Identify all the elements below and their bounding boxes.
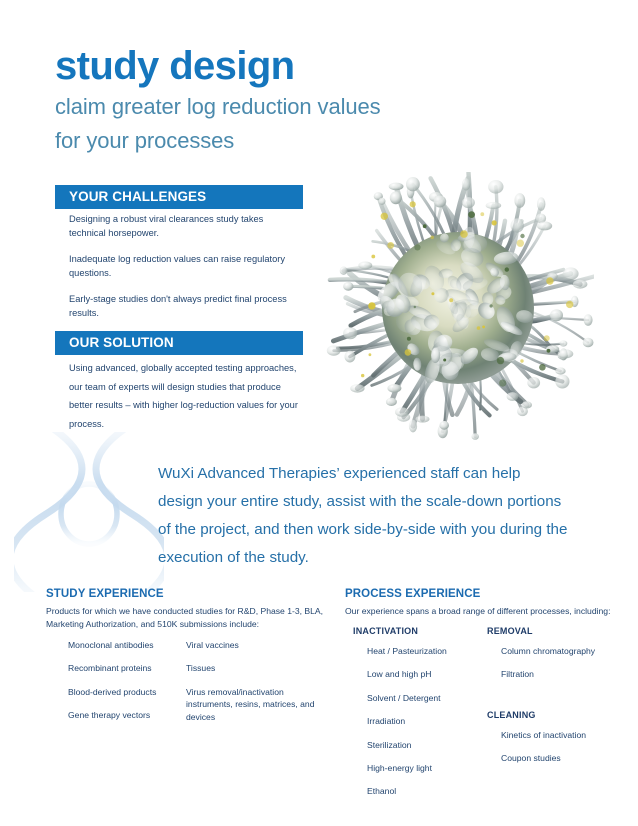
poster-header: study design claim greater log reduction… xyxy=(55,44,515,156)
inactivation-heading: INACTIVATION xyxy=(353,626,483,636)
list-item: Gene therapy vectors xyxy=(68,709,186,721)
section-bar-challenges: YOUR CHALLENGES xyxy=(55,185,303,209)
list-item: Low and high pH xyxy=(353,668,483,680)
list-item: High-energy light xyxy=(353,762,483,774)
list-item: Heat / Pasteurization xyxy=(353,645,483,657)
page-subtitle-line2: for your processes xyxy=(55,126,515,156)
virus-illustration-icon xyxy=(322,172,594,444)
section-bar-solution: OUR SOLUTION xyxy=(55,331,303,355)
cleaning-heading: CLEANING xyxy=(487,710,623,720)
page-subtitle-line1: claim greater log reduction values xyxy=(55,92,515,122)
list-item: Recombinant proteins xyxy=(68,662,186,674)
challenges-paragraph: Early-stage studies don't always predict… xyxy=(69,293,299,320)
list-item: Filtration xyxy=(487,668,623,680)
list-item: Virus removal/inactivation instruments, … xyxy=(186,686,326,723)
removal-heading: REMOVAL xyxy=(487,626,623,636)
list-item: Tissues xyxy=(186,662,326,674)
study-experience-column-b: Viral vaccines Tissues Virus removal/ina… xyxy=(186,639,326,734)
dna-helix-watermark-icon xyxy=(14,432,164,592)
inactivation-column: INACTIVATION Heat / Pasteurization Low a… xyxy=(345,626,483,809)
solution-body: Using advanced, globally accepted testin… xyxy=(69,359,299,433)
list-item: Monoclonal antibodies xyxy=(68,639,186,651)
list-item: Viral vaccines xyxy=(186,639,326,651)
list-item: Coupon studies xyxy=(487,752,623,764)
page-title: study design xyxy=(55,44,515,88)
process-experience-title: PROCESS EXPERIENCE xyxy=(345,588,630,600)
solution-paragraph: Using advanced, globally accepted testin… xyxy=(69,359,299,433)
list-item: Sterilization xyxy=(353,739,483,751)
column-spacer xyxy=(487,692,623,710)
list-item: Irradiation xyxy=(353,715,483,727)
removal-cleaning-column: REMOVAL Column chromatography Filtration… xyxy=(483,626,623,809)
section-bar-challenges-label: YOUR CHALLENGES xyxy=(55,185,303,209)
list-item: Kinetics of inactivation xyxy=(487,729,623,741)
section-bar-solution-label: OUR SOLUTION xyxy=(55,331,303,355)
study-experience-intro: Products for which we have conducted stu… xyxy=(46,605,341,631)
study-experience-column-a: Monoclonal antibodies Recombinant protei… xyxy=(46,639,186,734)
list-item: Ethanol xyxy=(353,785,483,797)
list-item: Blood-derived products xyxy=(68,686,186,698)
challenges-body: Designing a robust viral clearances stud… xyxy=(69,213,299,333)
process-experience-section: PROCESS EXPERIENCE Our experience spans … xyxy=(345,588,630,809)
process-experience-intro: Our experience spans a broad range of di… xyxy=(345,605,630,618)
study-experience-title: STUDY EXPERIENCE xyxy=(46,588,341,600)
challenges-paragraph: Inadequate log reduction values can rais… xyxy=(69,253,299,280)
challenges-paragraph: Designing a robust viral clearances stud… xyxy=(69,213,299,240)
study-experience-section: STUDY EXPERIENCE Products for which we h… xyxy=(46,588,341,734)
list-item: Column chromatography xyxy=(487,645,623,657)
pull-quote: WuXi Advanced Therapies’ experienced sta… xyxy=(158,460,568,572)
poster-page: study design claim greater log reduction… xyxy=(0,0,638,826)
list-item: Solvent / Detergent xyxy=(353,692,483,704)
